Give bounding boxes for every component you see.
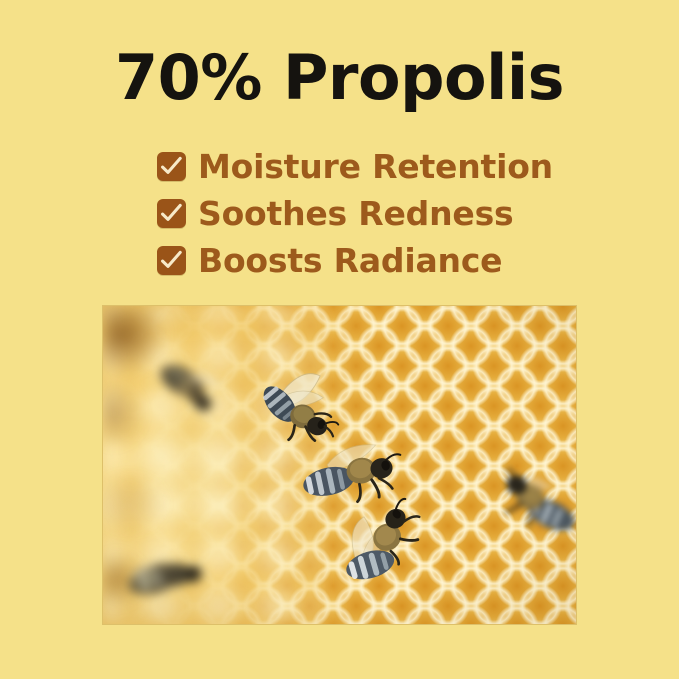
list-item: Boosts Radiance (157, 237, 577, 284)
checkbox-checked-icon (157, 199, 186, 228)
honeycomb-photo-content (103, 306, 576, 624)
list-item-label: Boosts Radiance (198, 241, 502, 281)
list-item: Moisture Retention (157, 143, 577, 190)
honeycomb-photo (103, 306, 576, 624)
checkbox-checked-icon (157, 152, 186, 181)
list-item-label: Moisture Retention (198, 147, 553, 187)
benefits-list: Moisture Retention Soothes Redness Boost… (157, 143, 577, 284)
page-title: 70% Propolis (0, 42, 679, 114)
list-item-label: Soothes Redness (198, 194, 513, 234)
list-item: Soothes Redness (157, 190, 577, 237)
propolis-benefits-infographic: 70% Propolis Moisture Retention Soothes … (0, 0, 679, 679)
checkbox-checked-icon (157, 246, 186, 275)
